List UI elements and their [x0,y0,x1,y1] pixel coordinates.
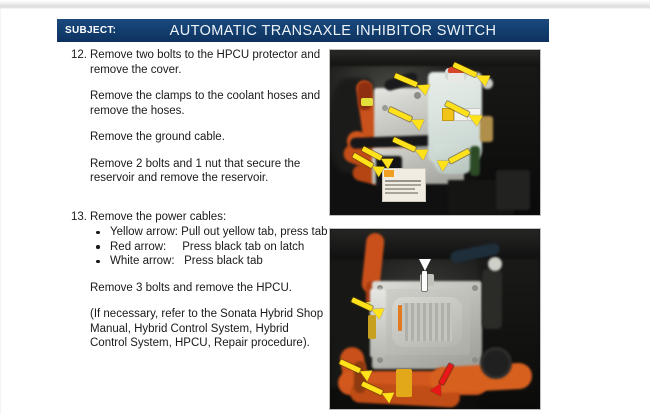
step-12-paragraph-3: Remove the ground cable. [90,130,325,145]
step-12-paragraph-4: Remove 2 bolts and 1 nut that secure the… [90,157,325,186]
upper-shroud [330,50,540,66]
hpcu-power-cables-photo [330,229,540,409]
bullet-text: Yellow arrow: Pull out yellow tab, press… [110,226,328,238]
step-12-paragraph-1: Remove two bolts to the HPCU protector a… [90,48,325,77]
document-page: SUBJECT: AUTOMATIC TRANSAXLE INHIBITOR S… [0,0,650,414]
list-item: Red arrow: Press black tab on latch [90,240,325,255]
bullet-dot-icon [96,231,100,235]
step-13-bullet-list: Yellow arrow: Pull out yellow tab, press… [90,225,325,269]
left-gold-connector [368,315,376,339]
hpcu-protector-and-reservoir-photo [330,50,540,215]
hpcu-fin-pattern [402,303,452,341]
yellow-tag-1 [361,98,373,106]
green-connector [470,146,480,176]
step-12-paragraph-2: Remove the clamps to the coolant hoses a… [90,89,325,118]
step-13-body: Remove the power cables: Yellow arrow: P… [90,210,325,351]
step-12: 12. Remove two bolts to the HPCU protect… [57,48,325,186]
right-component [482,269,502,329]
step-13-lead: Remove the power cables: [90,210,325,225]
bullet-dot-icon [96,260,100,264]
subject-header-bar: SUBJECT: AUTOMATIC TRANSAXLE INHIBITOR S… [57,19,549,42]
bullet-dot-icon [96,245,100,249]
warning-label-line-3 [385,188,415,190]
bolt-1 [382,105,388,111]
yellow-cable-band [396,369,412,397]
instruction-steps: 12. Remove two bolts to the HPCU protect… [57,48,325,361]
step-13-paragraph-1: Remove 3 bolts and remove the HPCU. [90,281,325,296]
warning-label-line-2 [385,184,421,186]
viewer-top-edge [0,0,650,9]
brass-fitting [480,116,493,142]
list-item: Yellow arrow: Pull out yellow tab, press… [90,225,325,240]
photo-2-content [330,229,540,409]
step-12-number: 12. [63,48,87,63]
warning-label-icon [384,170,394,177]
step-13-number: 13. [63,210,87,225]
body-panel [496,170,530,210]
step-12-body: Remove two bolts to the HPCU protector a… [90,48,325,186]
warning-label-line-1 [385,180,421,182]
subject-label: SUBJECT: [65,25,116,36]
right-white-cap [488,257,502,271]
callout-arrow-white-1 [409,259,441,272]
step-13-paragraph-2: (If necessary, refer to the Sonata Hybri… [90,307,325,351]
page-left-rule [0,9,1,414]
right-ring [480,347,512,379]
bullet-text: White arrow: Press black tab [110,255,263,267]
upper-shroud-2 [330,229,540,259]
bullet-text: Red arrow: Press black tab on latch [110,241,304,253]
page-title: AUTOMATIC TRANSAXLE INHIBITOR SWITCH [57,19,549,42]
hpcu-bolt-2 [472,285,478,291]
orange-marker [398,305,402,331]
hpcu-bolt-3 [377,357,383,363]
hpcu-bolt-4 [472,357,478,363]
warning-label-line-4 [385,192,418,194]
photo-1-content [330,50,540,215]
step-13: 13. Remove the power cables: Yellow arro… [57,210,325,351]
list-item: White arrow: Press black tab [90,254,325,269]
